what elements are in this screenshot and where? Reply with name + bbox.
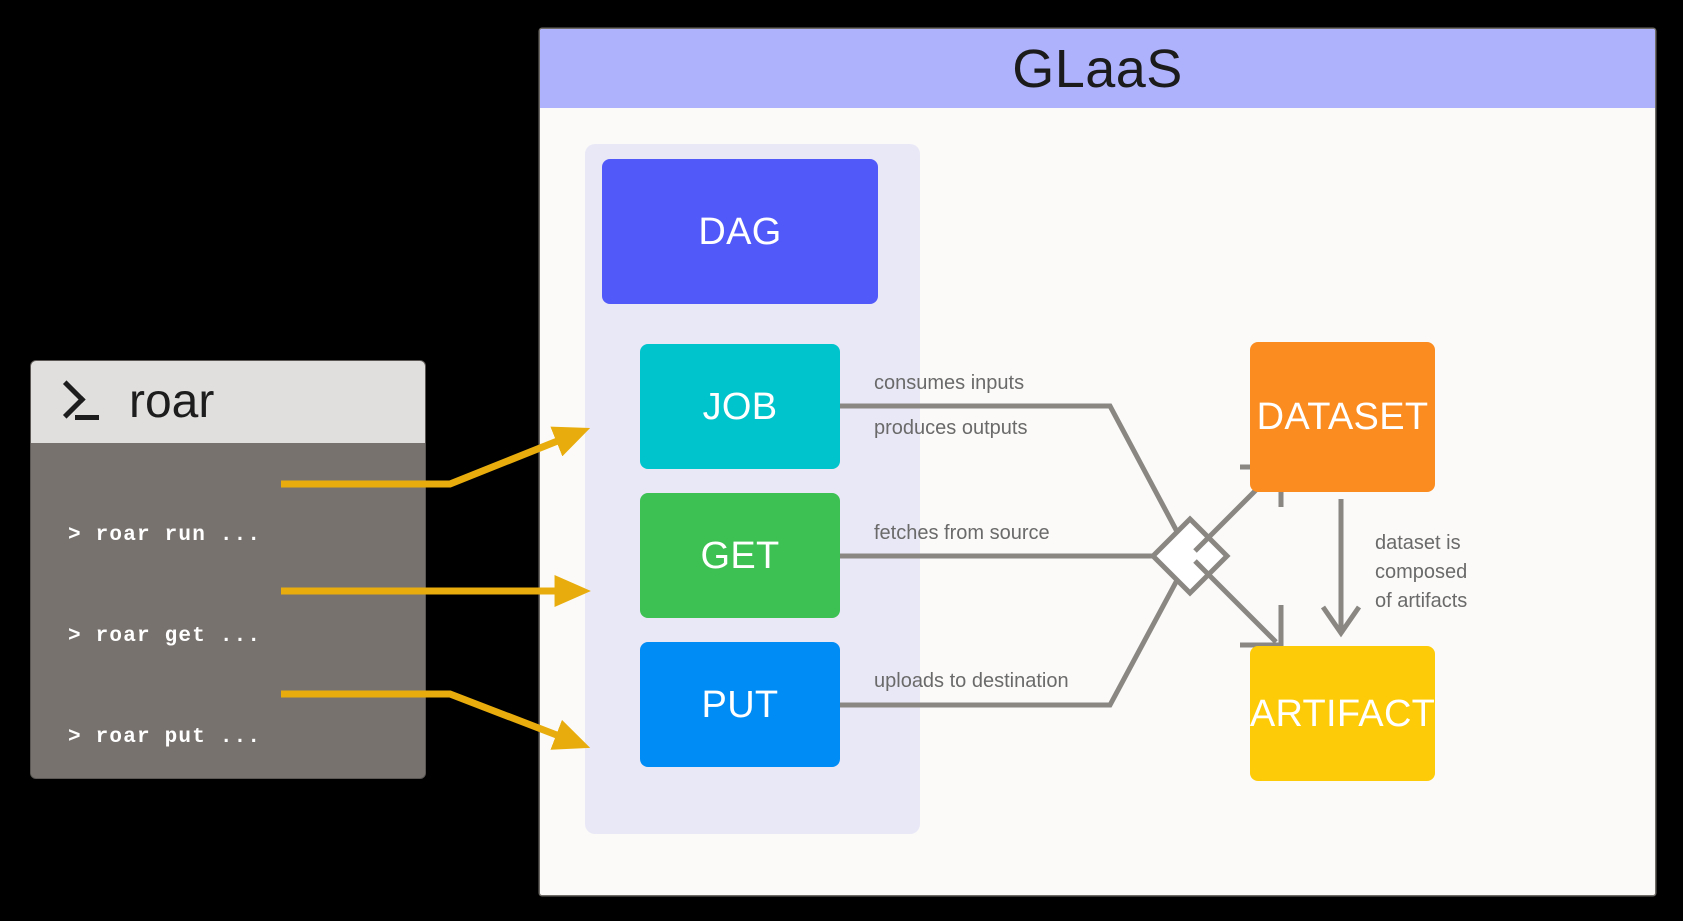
terminal-title: roar [129,378,214,426]
terminal-command-line: > roar run ... [68,524,261,547]
terminal-command-line: > roar get ... [68,625,261,648]
node-job[interactable]: JOB [640,344,840,469]
prompt-caret-underscore-icon [47,374,103,430]
terminal-titlebar: roar [31,361,425,443]
node-dag-label: DAG [698,213,781,251]
node-dataset-label: DATASET [1257,398,1429,436]
junction-diamond-icon [1153,519,1227,593]
terminal-command-line: > roar put ... [68,726,261,749]
roar-terminal-window: roar > roar run ... > roar get ... > roa… [31,361,425,778]
node-dataset[interactable]: DATASET [1250,342,1435,492]
node-get[interactable]: GET [640,493,840,618]
chevron-right-icon [47,380,85,418]
edge-label-dataset-composed-of-artifacts: dataset is composed of artifacts [1375,529,1485,616]
edge-label-fetches-from-source: fetches from source [874,519,1050,547]
diagram-canvas: roar > roar run ... > roar get ... > roa… [0,0,1683,921]
edge-label-produces-outputs: produces outputs [874,414,1027,442]
node-job-label: JOB [703,388,778,426]
node-put[interactable]: PUT [640,642,840,767]
glaas-header: GLaaS [540,29,1655,108]
glaas-title: GLaaS [1012,42,1183,96]
edge-label-consumes-inputs: consumes inputs [874,369,1024,397]
underscore-icon [75,415,99,420]
node-artifact[interactable]: ARTIFACT [1250,646,1435,781]
node-put-label: PUT [702,686,779,724]
terminal-body: > roar run ... > roar get ... > roar put… [31,443,425,778]
node-dag[interactable]: DAG [602,159,878,304]
node-get-label: GET [700,537,779,575]
node-artifact-label: ARTIFACT [1250,695,1435,733]
glaas-panel: GLaaS [540,29,1655,895]
edge-label-uploads-to-destination: uploads to destination [874,667,1069,695]
